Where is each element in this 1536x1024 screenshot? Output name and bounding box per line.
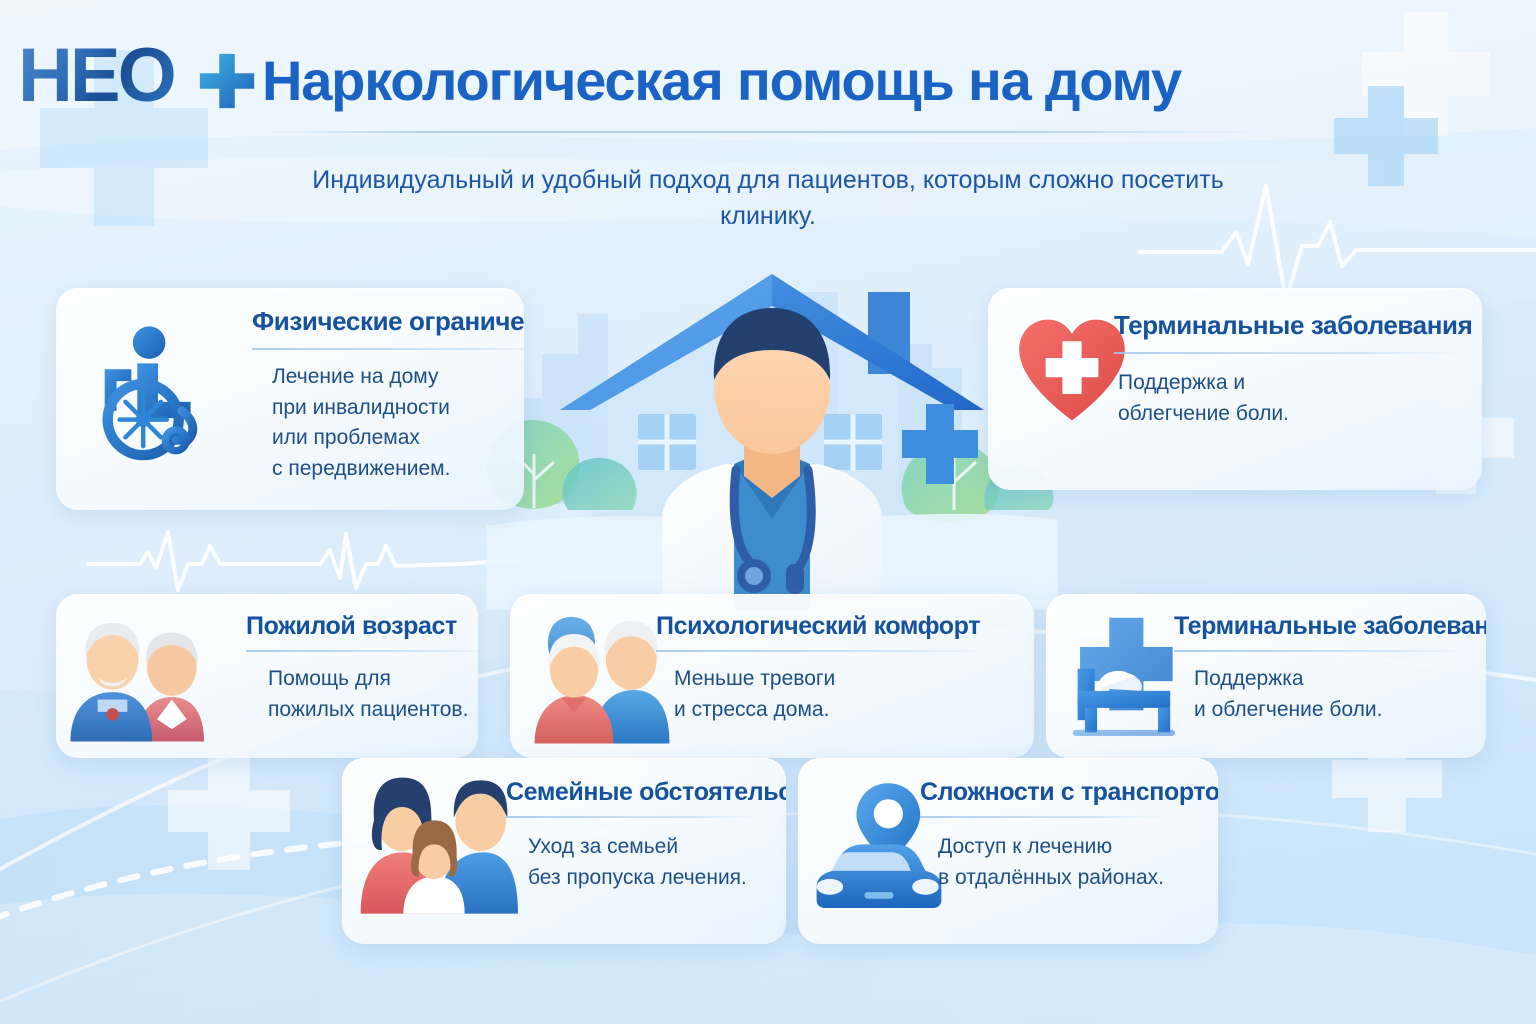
- card-title: Семейные обстоятельства: [506, 778, 786, 807]
- doctor-at-home-illustration: [486, 258, 1058, 610]
- brand-logo: НЕО: [18, 38, 174, 114]
- card-title: Терминальные заболевания: [1174, 612, 1486, 641]
- wheelchair-icon: [84, 316, 232, 464]
- elderly-couple-icon: [66, 608, 206, 744]
- card-divider: [252, 348, 524, 350]
- card-family-circumstances[interactable]: Семейные обстоятельства Уход за семьей б…: [342, 758, 786, 944]
- card-divider: [246, 650, 478, 652]
- card-title: Терминальные заболевания: [1114, 310, 1472, 341]
- card-title: Сложности с транспортом: [920, 778, 1218, 807]
- card-transport-difficulties[interactable]: Сложности с транспортом Доступ к лечению…: [798, 758, 1218, 944]
- card-divider: [656, 650, 988, 652]
- ecg-heartbeat-line-2: [88, 532, 520, 590]
- card-divider: [506, 816, 764, 818]
- infographic-canvas: НЕО Наркологическая помощь на дому Индив…: [0, 0, 1536, 1024]
- card-physical-limitations[interactable]: Физические ограничения Лечение на дому п…: [56, 288, 524, 510]
- card-terminal-illness-heart[interactable]: Терминальные заболевания Поддержка и обл…: [988, 288, 1482, 490]
- card-body: Поддержка и облегчение боли.: [1118, 368, 1289, 429]
- card-divider: [1174, 650, 1468, 652]
- card-body: Поддержка и облегчение боли.: [1194, 664, 1382, 725]
- family-icon: [358, 768, 518, 918]
- card-psychological-comfort[interactable]: Психологический комфорт Меньше тревоги и…: [510, 594, 1034, 758]
- card-body: Доступ к лечению в отдалённых районах.: [938, 832, 1164, 893]
- page-subtitle: Индивидуальный и удобный подход для паци…: [268, 163, 1268, 234]
- card-divider: [920, 816, 1166, 818]
- card-divider: [1114, 352, 1464, 354]
- two-people-icon: [532, 606, 672, 746]
- card-title: Психологический комфорт: [656, 612, 980, 641]
- page-title: Наркологическая помощь на дому: [262, 48, 1181, 113]
- card-body: Меньше тревоги и стресса дома.: [674, 664, 835, 725]
- card-title: Физические ограничения: [252, 306, 524, 337]
- card-body: Уход за семьей без пропуска лечения.: [528, 832, 747, 893]
- card-terminal-illness-bed[interactable]: Терминальные заболевания Поддержка и обл…: [1046, 594, 1486, 758]
- header: НЕО Наркологическая помощь на дому Индив…: [0, 0, 1536, 150]
- header-divider: [262, 131, 1262, 133]
- card-body: Лечение на дому при инвалидности или про…: [272, 362, 450, 485]
- plus-icon: [196, 50, 258, 112]
- card-title: Пожилой возраст: [246, 612, 457, 641]
- card-body: Помощь для пожилых пациентов.: [268, 664, 468, 725]
- card-elderly-age[interactable]: Пожилой возраст Помощь для пожилых пацие…: [56, 594, 478, 758]
